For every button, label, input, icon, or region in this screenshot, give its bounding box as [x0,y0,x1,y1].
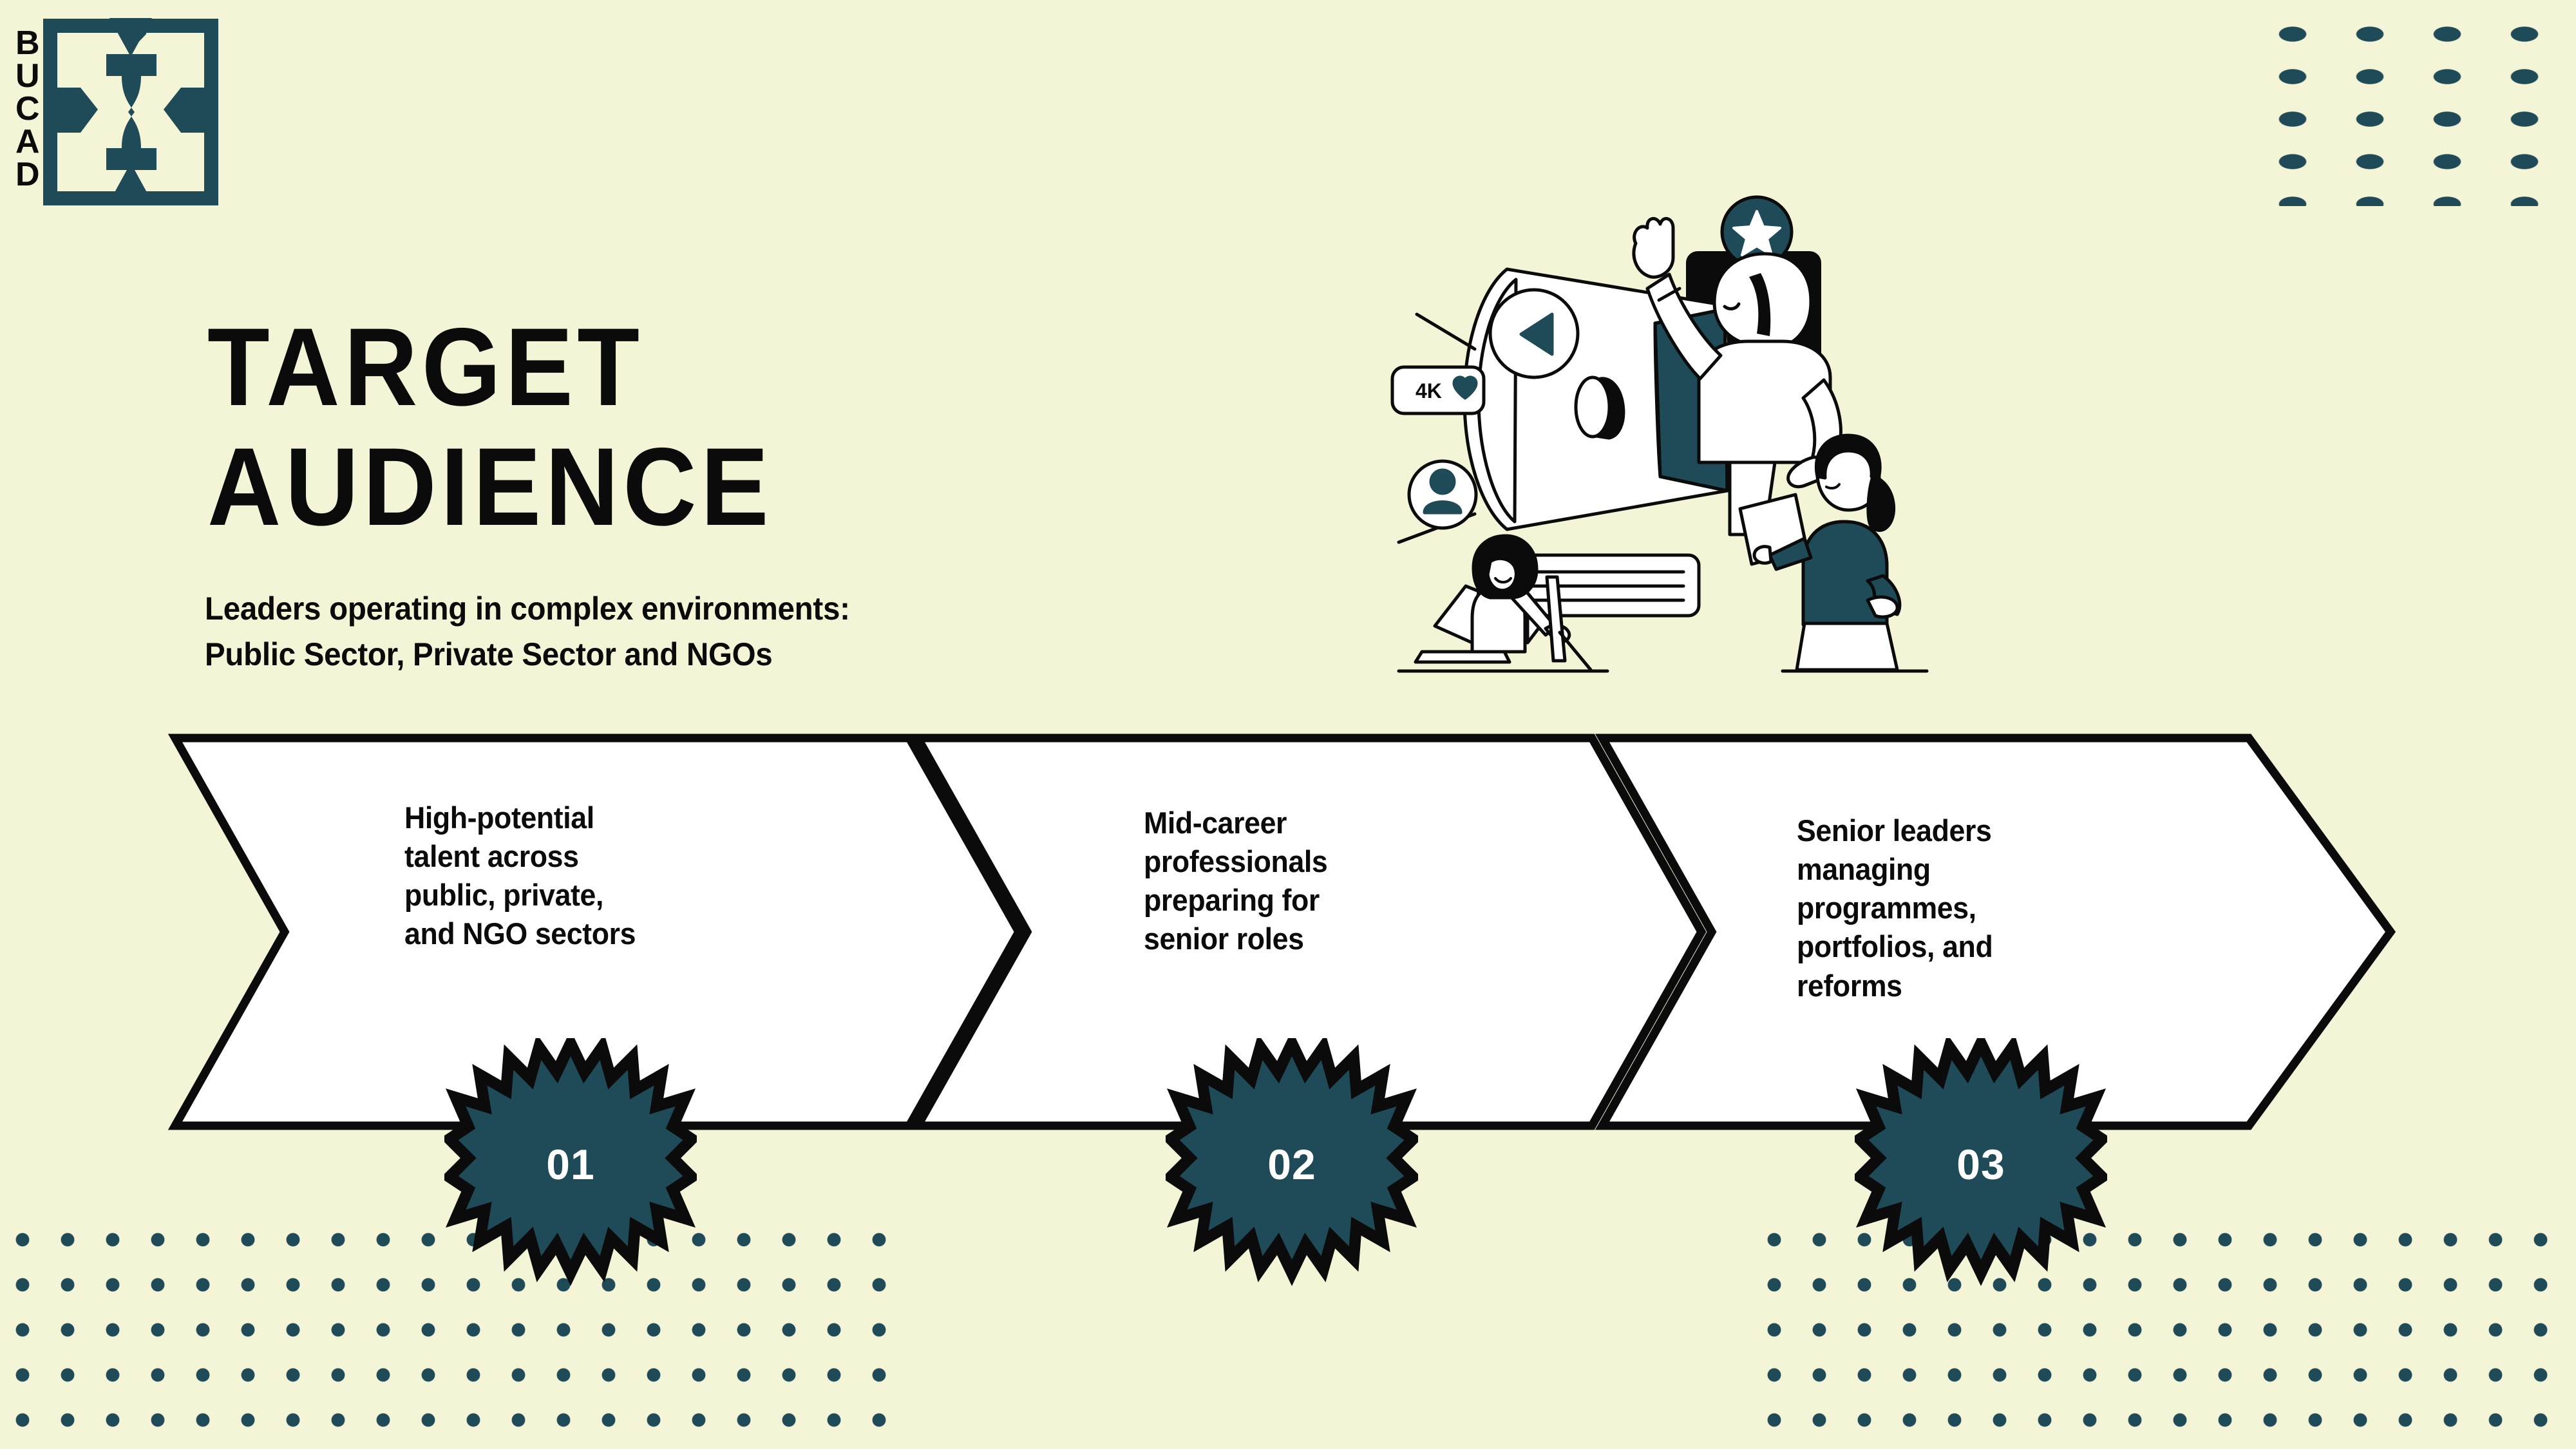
card-2-line-3: preparing for [1144,883,1320,917]
step-badge-02[interactable]: 02 [1166,1038,1418,1291]
card-1-line-4: and NGO sectors [404,916,636,951]
step-badge-01[interactable]: 01 [444,1038,697,1291]
card-2-line-2: professionals [1144,844,1327,878]
card-1-line-3: public, private, [404,878,603,912]
card-2-line-1: Mid-career [1144,806,1287,840]
slide-canvas: B U C A D TARGETAUDIENCE Leaders operati… [0,0,2576,1449]
step-badge-03[interactable]: 03 [1855,1038,2107,1291]
card-3-line-4: portfolios, and [1797,929,1993,963]
step-badge-02-number: 02 [1166,1038,1418,1291]
card-1-line-2: talent across [404,839,579,873]
card-1-line-1: High-potential [404,800,594,835]
chevron-card-3-text: Senior leadersmanagingprogrammes,portfol… [1797,811,1993,1005]
chevron-card-1-text: High-potentialtalent acrosspublic, priva… [404,799,636,954]
card-2-line-4: senior roles [1144,922,1304,956]
card-3-line-2: managing [1797,852,1931,886]
card-3-line-3: programmes, [1797,891,1976,925]
card-3-line-1: Senior leaders [1797,813,1991,848]
step-badge-01-number: 01 [444,1038,697,1291]
chevron-card-2-text: Mid-careerprofessionalspreparing forseni… [1144,804,1327,959]
card-3-line-5: reforms [1797,969,1902,1003]
step-badge-03-number: 03 [1855,1038,2107,1291]
